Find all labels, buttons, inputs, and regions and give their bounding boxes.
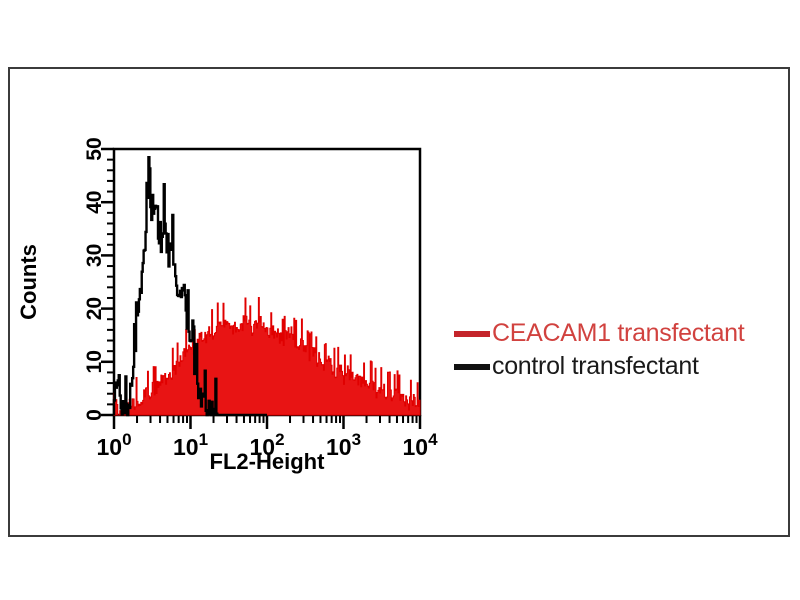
histogram-plot: 01020304050 100101102103104 FL2-Height C… [10,69,788,535]
y-axis [101,149,114,415]
legend-label-ceacam1: CEACAM1 transfectant [492,319,744,348]
y-tick-label: 0 [83,409,106,421]
legend-swatch-ceacam1 [454,331,490,337]
y-axis-tick-labels: 01020304050 [83,137,106,421]
legend-item-ceacam1: CEACAM1 transfectant [454,317,794,350]
x-tick-label: 104 [402,430,438,460]
y-tick-label: 40 [83,191,106,214]
x-tick-label: 103 [326,430,361,460]
y-tick-label: 10 [83,350,106,373]
x-tick-label: 101 [173,430,208,460]
legend-label-control: control transfectant [492,352,699,381]
y-axis-title: Counts [16,244,41,320]
legend-item-control: control transfectant [454,350,794,383]
chart-legend: CEACAM1 transfectant control transfectan… [454,317,794,383]
y-tick-label: 30 [83,244,106,267]
flow-cytometry-figure: 01020304050 100101102103104 FL2-Height C… [0,0,800,600]
x-tick-label: 100 [96,430,131,460]
y-tick-label: 50 [83,137,106,160]
y-tick-label: 20 [83,297,106,320]
figure-frame: 01020304050 100101102103104 FL2-Height C… [8,67,790,537]
x-axis-title: FL2-Height [210,449,326,474]
legend-swatch-control [454,364,490,370]
x-axis [114,415,420,429]
